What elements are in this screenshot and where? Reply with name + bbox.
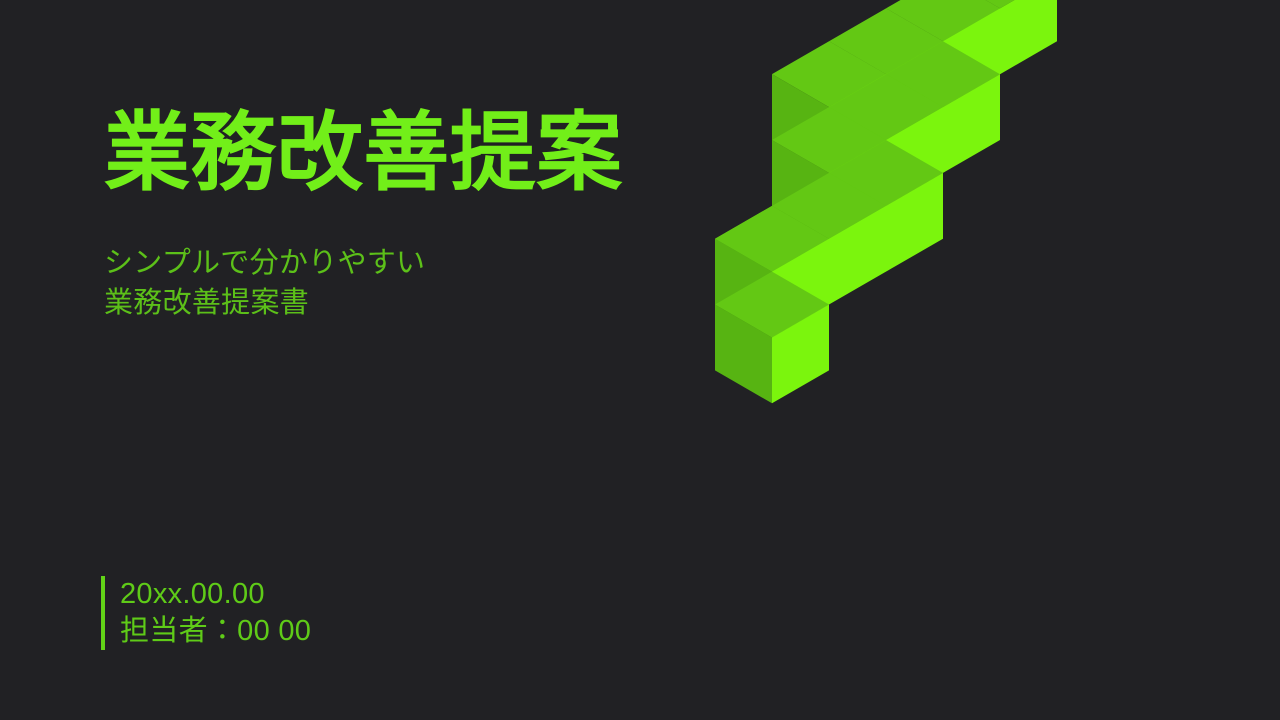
isometric-cube-illustration	[860, 85, 1200, 655]
subtitle-line-1: シンプルで分かりやすい	[104, 243, 425, 283]
title-column: 業務改善提案 シンプルで分かりやすい 業務改善提案書 20xx.00.00 担当…	[104, 0, 804, 720]
meta-lines: 20xx.00.00 担当者：00 00	[120, 576, 311, 650]
cube-face-right	[1000, 0, 1057, 74]
slide-root: 業務改善提案 シンプルで分かりやすい 業務改善提案書 20xx.00.00 担当…	[0, 0, 1280, 720]
subtitle-line-2: 業務改善提案書	[104, 283, 425, 323]
page-title: 業務改善提案	[104, 108, 623, 198]
date-text: 20xx.00.00	[120, 576, 311, 613]
accent-bar	[101, 576, 105, 650]
meta-block: 20xx.00.00 担当者：00 00	[101, 576, 311, 650]
author-text: 担当者：00 00	[120, 613, 311, 650]
subtitle: シンプルで分かりやすい 業務改善提案書	[104, 243, 425, 323]
cube-stack-svg	[860, 85, 1200, 655]
